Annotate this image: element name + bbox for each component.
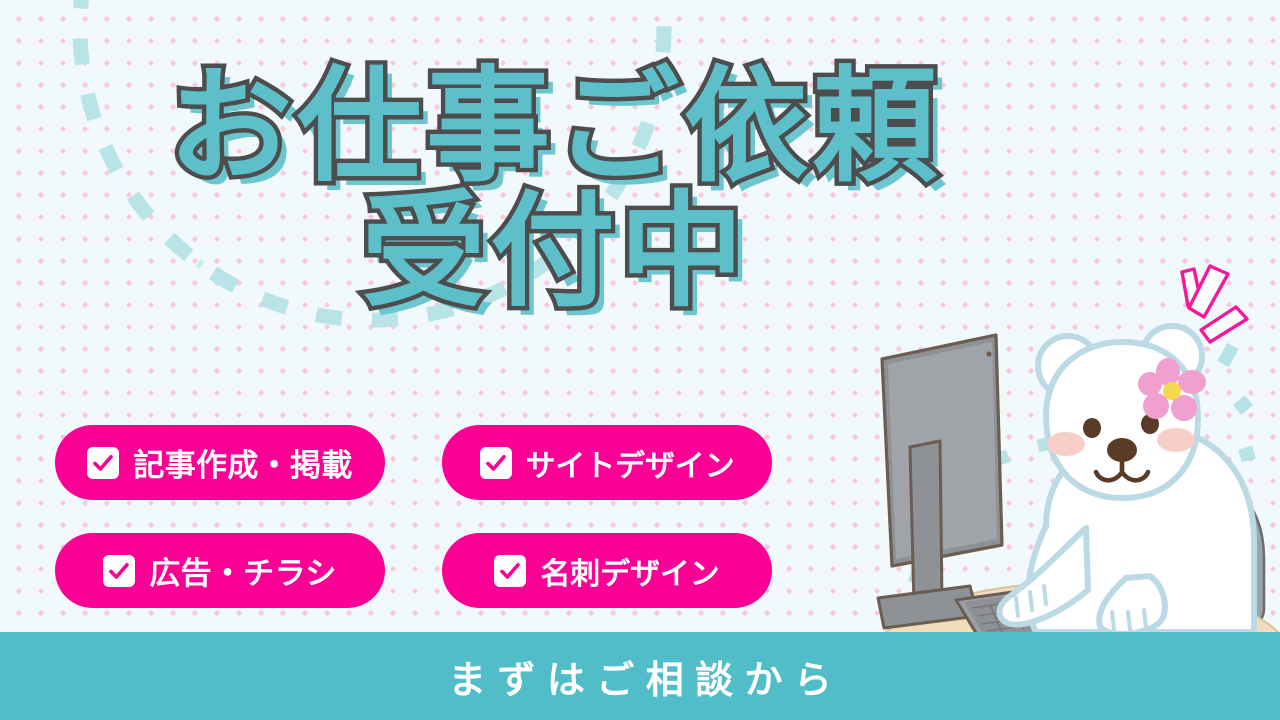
blush-right <box>1157 428 1195 452</box>
service-pill-site-design[interactable]: サイトデザイン <box>442 425 772 500</box>
service-pill-label: 名刺デザイン <box>540 549 719 593</box>
service-pill-label: 広告・チラシ <box>149 548 336 593</box>
checkmark-icon <box>103 555 135 587</box>
service-pill-business-card[interactable]: 名刺デザイン <box>442 533 772 608</box>
checkmark-icon <box>87 447 119 479</box>
service-pill-label: サイトデザイン <box>526 441 735 485</box>
checkmark-icon <box>480 447 512 479</box>
bottom-cta-text: まずはご相談から <box>437 649 844 704</box>
headline-line-1: お仕事ご依頼 お仕事ご依頼 お仕事ご依頼 <box>0 62 1110 193</box>
checkmark-icon <box>494 555 526 587</box>
service-pill-grid: 記事作成・掲載 サイトデザイン 広告・チラシ <box>55 425 785 608</box>
banner-canvas: お仕事ご依頼 お仕事ご依頼 お仕事ご依頼 受付中 受付中 受付中 記事作成・掲載 <box>0 0 1280 720</box>
monitor-icon <box>878 335 1002 628</box>
service-pill-ads-flyers[interactable]: 広告・チラシ <box>55 533 385 608</box>
blush-left <box>1047 432 1085 456</box>
bottom-cta-banner: まずはご相談から <box>0 632 1280 720</box>
eye-left <box>1083 418 1101 438</box>
headline-line-2-face: 受付中 <box>362 180 749 324</box>
bear-head-icon <box>1038 326 1206 498</box>
service-pill-label: 記事作成・掲載 <box>133 440 352 485</box>
service-pill-article[interactable]: 記事作成・掲載 <box>55 425 385 500</box>
headline-line-1-face: お仕事ご依頼 <box>168 55 942 199</box>
